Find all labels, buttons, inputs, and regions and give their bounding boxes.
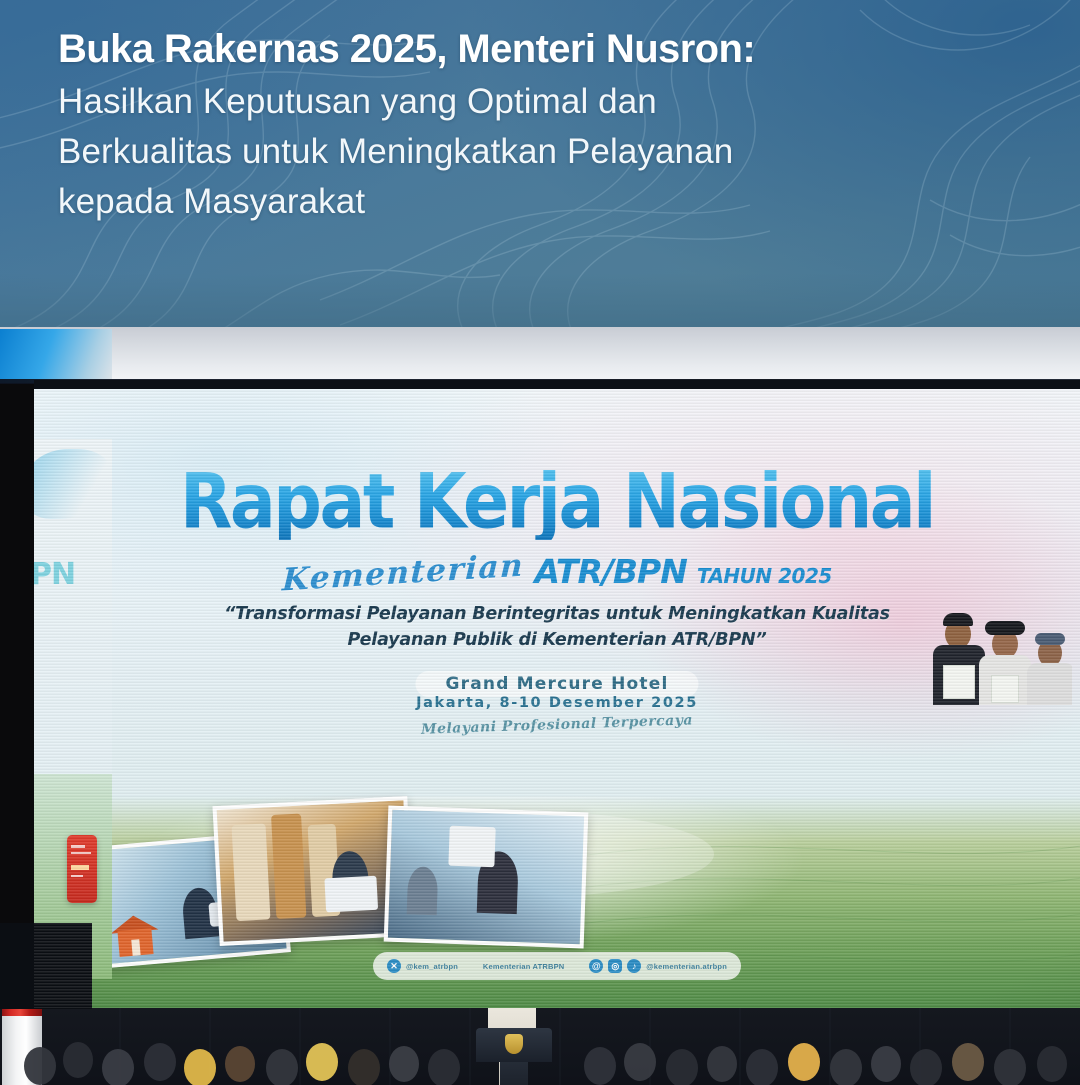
tagline-line-1: “Transformasi Pelayanan Berintegritas un…	[34, 601, 1080, 627]
news-graphic: Buka Rakernas 2025, Menteri Nusron: Hasi…	[0, 0, 1080, 1085]
ceiling-blue-light	[0, 329, 112, 383]
headline-primary: Buka Rakernas 2025, Menteri Nusron:	[58, 26, 1018, 73]
banner-people-photo	[927, 583, 1072, 705]
social-item-0[interactable]: ✕ @kem_atrbpn	[387, 959, 458, 973]
header-banner: Buka Rakernas 2025, Menteri Nusron: Hasi…	[0, 0, 1080, 327]
banner-title-org: ATR/BPN	[535, 552, 687, 591]
social-handle-instagram: @kementerian.atrbpn	[646, 962, 727, 971]
left-dark-wall	[0, 923, 92, 1009]
social-handle-x: @kem_atrbpn	[406, 962, 458, 971]
headline-secondary: Hasilkan Keputusan yang Optimal dan Berk…	[58, 77, 1018, 226]
hall-ceiling	[0, 327, 1080, 383]
headline-block: Buka Rakernas 2025, Menteri Nusron: Hasi…	[58, 26, 1018, 226]
threads-icon: @	[589, 959, 603, 973]
screen-bezel	[34, 380, 1080, 389]
conference-hall	[0, 1008, 1080, 1085]
audience	[0, 1008, 1080, 1085]
banner-title-main: Rapat Kerja Nasional	[180, 467, 934, 539]
led-stage-backdrop: Rapat Kerja Nasional Kementerian ATR/BPN…	[34, 383, 1080, 1008]
collage-card-right	[384, 806, 589, 949]
person-left	[933, 613, 985, 705]
banner-subtitle-row: Kementerian ATR/BPN TAHUN 2025	[34, 552, 1080, 591]
header-bottom-fade	[0, 273, 1080, 327]
social-handle-facebook: Kementerian ATRBPN	[483, 962, 565, 971]
social-item-1[interactable]: Kementerian ATRBPN	[483, 962, 565, 971]
instagram-icon: ◎	[608, 959, 622, 973]
banner-title-script: Kementerian	[282, 547, 525, 598]
headline-line-2: Berkualitas untuk Meningkatkan Pelayanan	[58, 127, 1018, 177]
social-handles-bar: ✕ @kem_atrbpn Kementerian ATRBPN @ ◎ ♪ @…	[373, 952, 741, 980]
banner-tagline: “Transformasi Pelayanan Berintegritas un…	[34, 601, 1080, 654]
banner-title-year: TAHUN 2025	[697, 564, 832, 591]
venue-date: Jakarta, 8-10 Desember 2025	[416, 695, 698, 711]
x-twitter-icon: ✕	[387, 959, 401, 973]
tiktok-icon: ♪	[627, 959, 641, 973]
headline-line-1: Hasilkan Keputusan yang Optimal dan	[58, 77, 1018, 127]
banner-photo-collage	[86, 795, 646, 970]
headline-line-3: kepada Masyarakat	[58, 177, 1018, 227]
venue-name: Grand Mercure Hotel	[445, 674, 668, 694]
person-right	[1027, 627, 1072, 705]
person-middle	[979, 619, 1031, 705]
panel-logo-text: PN	[34, 557, 75, 592]
panel-swoosh	[34, 449, 112, 519]
event-photograph: Rapat Kerja Nasional Kementerian ATR/BPN…	[0, 327, 1080, 1085]
house-illustration	[109, 914, 160, 958]
social-item-2[interactable]: @ ◎ ♪ @kementerian.atrbpn	[589, 959, 727, 973]
banner-title-block: Rapat Kerja Nasional Kementerian ATR/BPN…	[34, 471, 1080, 591]
venue-pill: Grand Mercure Hotel	[415, 671, 698, 697]
tagline-line-2: Pelayanan Publik di Kementerian ATR/BPN”	[34, 627, 1080, 653]
phone-mockup	[67, 835, 97, 903]
